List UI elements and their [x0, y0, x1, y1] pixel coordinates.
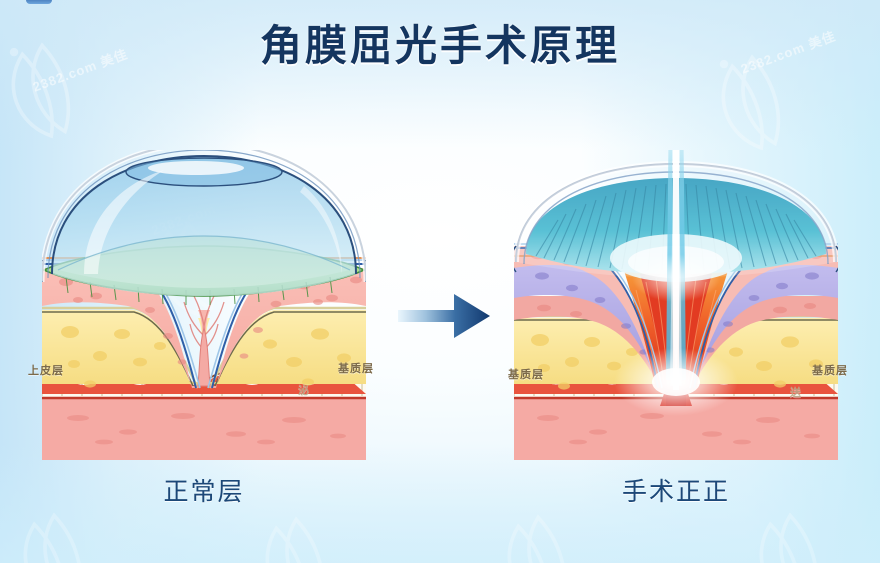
caption-normal-cornea: 正常层: [8, 472, 400, 508]
diagram-normal-cornea: [8, 150, 400, 460]
tissue-label-epithelium-left: 上皮层: [28, 362, 64, 378]
top-blue-nub: [26, 0, 52, 4]
tissue-label-secretion-left: 泌: [298, 382, 310, 398]
page-title: 角膜屈光手术原理: [0, 12, 880, 73]
tissue-label-stroma-left: 基质层: [338, 360, 374, 376]
caption-post-surgery-cornea: 手术正正: [480, 472, 872, 508]
tissue-label-stroma-right-left: 基质层: [508, 366, 544, 382]
diagram-post-surgery-cornea: [480, 150, 872, 460]
tissue-label-stroma-right-right: 基质层: [812, 362, 848, 378]
infographic-canvas: 2382.com 美佳 2382.com 美佳 2382.com 2382.co…: [0, 0, 880, 563]
tissue-label-delivery-right: 送: [790, 384, 802, 400]
transition-arrow: [396, 288, 492, 344]
